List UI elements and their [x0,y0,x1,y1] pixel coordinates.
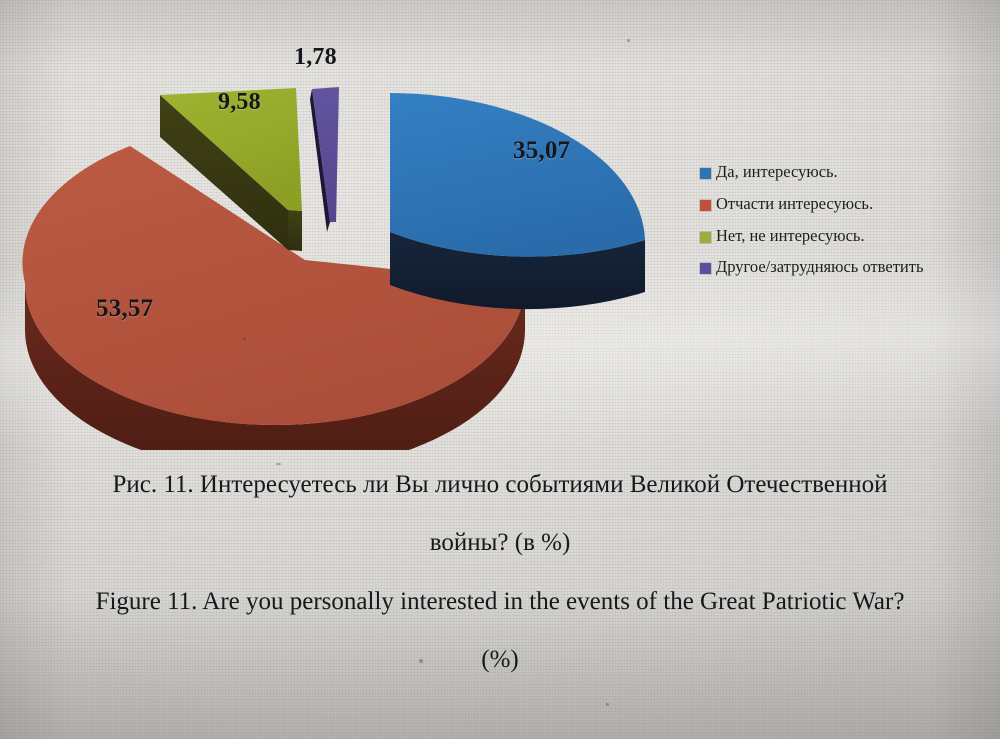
caption-ru-line2: войны? (в %) [0,529,1000,557]
paper-speck [243,337,246,340]
legend-label-other: Другое/затрудняюсь ответить [716,258,923,276]
figure-caption: Рис. 11. Интересуетесь ли Вы лично событ… [0,472,1000,674]
caption-ru-line1: Рис. 11. Интересуетесь ли Вы лично событ… [0,472,1000,498]
paper-speck [627,39,630,42]
legend-swatch-icon-green [700,232,711,243]
chart-legend: Да, интересуюсь. Отчасти интересуюсь. Не… [700,163,1000,290]
pie-slice-blue[interactable] [390,93,645,309]
caption-en-line1: Figure 11. Are you personally interested… [0,588,1000,616]
figure-page: 35,07 53,57 9,58 1,78 Да, интересуюсь. О… [0,0,1000,739]
pie-label-green: 9,58 [218,89,261,116]
legend-swatch-icon-red [700,200,711,211]
legend-label-yes: Да, интересуюсь. [716,163,838,181]
pie-slice-green-side2 [288,210,302,251]
pie-chart: 35,07 53,57 9,58 1,78 [0,0,690,450]
legend-item-yes[interactable]: Да, интересуюсь. [700,163,1000,181]
pie-slice-purple[interactable] [310,87,339,232]
pie-label-blue: 35,07 [513,137,570,165]
legend-item-no[interactable]: Нет, не интересуюсь. [700,227,1000,245]
legend-label-partly: Отчасти интересуюсь. [716,195,873,213]
pie-chart-svg [0,0,690,450]
paper-speck [606,703,609,706]
pie-label-red: 53,57 [96,295,153,323]
pie-label-purple: 1,78 [294,44,337,71]
paper-speck [419,659,423,663]
pie-slice-blue-top [390,93,645,257]
legend-item-other[interactable]: Другое/затрудняюсь ответить [700,258,1000,276]
legend-swatch-icon-purple [700,263,711,274]
legend-item-partly[interactable]: Отчасти интересуюсь. [700,195,1000,213]
paper-speck [276,463,281,465]
legend-label-no: Нет, не интересуюсь. [716,227,865,245]
legend-swatch-icon-blue [700,168,711,179]
caption-en-line2: (%) [0,646,1000,674]
